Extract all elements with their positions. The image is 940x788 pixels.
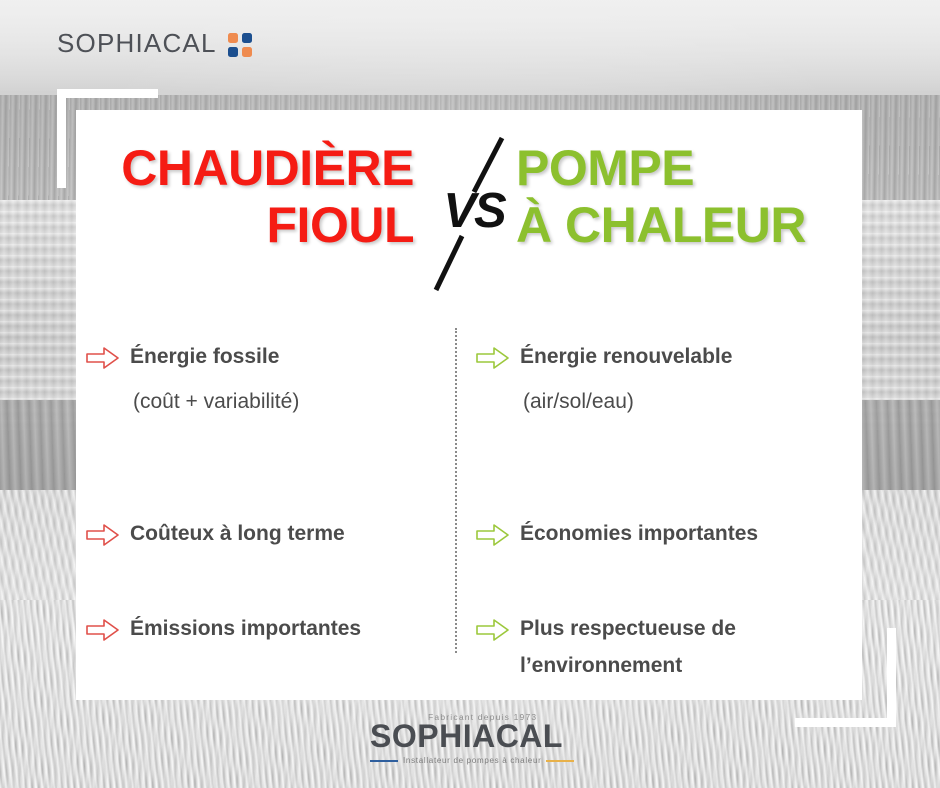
list-item-text: Énergie fossile (coût + variabilité) xyxy=(130,343,464,415)
list-item-lead: Économies importantes xyxy=(520,520,854,547)
list-item: Énergie fossile (coût + variabilité) xyxy=(86,343,464,415)
versus-label: VS xyxy=(434,187,514,236)
list-item-sub: l’environnement xyxy=(520,652,854,679)
footer-tagline-bottom: Installateur de pompes à chaleur xyxy=(403,756,541,765)
title-row: CHAUDIÈRE FIOUL VS POMPE À CHALEUR xyxy=(76,140,862,290)
list-item-text: Énergie renouvelable (air/sol/eau) xyxy=(520,343,854,415)
arrow-right-icon xyxy=(476,618,509,642)
list-item: Énergie renouvelable (air/sol/eau) xyxy=(476,343,854,415)
dot-top-left xyxy=(228,33,238,43)
arrow-right-icon xyxy=(86,523,119,547)
dot-bottom-right xyxy=(242,47,252,57)
arrow-right-icon xyxy=(86,618,119,642)
arrow-right-icon xyxy=(476,346,509,370)
comparison-columns: Énergie fossile (coût + variabilité) Coû… xyxy=(76,315,862,665)
versus-badge: VS xyxy=(428,132,520,297)
dot-top-right xyxy=(242,33,252,43)
list-item-lead: Coûteux à long terme xyxy=(130,520,464,547)
list-item: Coûteux à long terme xyxy=(86,520,464,547)
list-item-lead: Émissions importantes xyxy=(130,615,464,642)
title-right-line1: POMPE xyxy=(516,140,862,197)
arrow-right-icon xyxy=(86,346,119,370)
header-brand: SOPHIACAL xyxy=(57,28,252,59)
list-item-sub: (coût + variabilité) xyxy=(133,388,464,415)
footer-brand-rest: OPHIACAL xyxy=(392,718,563,754)
title-right-line2: À CHALEUR xyxy=(516,197,862,254)
footer-logo: Fabricant depuis 1973 SOPHIACAL Installa… xyxy=(370,712,570,774)
list-item-sub: (air/sol/eau) xyxy=(523,388,854,415)
footer-line-blue xyxy=(370,760,398,762)
list-item-text: Économies importantes xyxy=(520,520,854,547)
column-pompe-a-chaleur: Énergie renouvelable (air/sol/eau) Écono… xyxy=(476,315,854,679)
list-item-lead: Énergie fossile xyxy=(130,343,464,370)
list-item: Économies importantes xyxy=(476,520,854,547)
footer-brand-s-glyph: S xyxy=(370,718,392,754)
footer-line-gold xyxy=(546,760,574,762)
title-left-line1: CHAUDIÈRE xyxy=(76,140,414,197)
list-item-text: Plus respectueuse de l’environnement xyxy=(520,615,854,679)
list-item: Plus respectueuse de l’environnement xyxy=(476,615,854,679)
dot-bottom-left xyxy=(228,47,238,57)
title-left-line2: FIOUL xyxy=(76,197,414,254)
arrow-right-icon xyxy=(476,523,509,547)
brand-name: SOPHIACAL xyxy=(57,28,217,59)
title-right-group: POMPE À CHALEUR xyxy=(516,140,862,254)
list-item-lead: Énergie renouvelable xyxy=(520,343,854,370)
footer-brand-name: SOPHIACAL xyxy=(370,720,563,752)
list-item-lead: Plus respectueuse de xyxy=(520,615,854,642)
list-item-text: Émissions importantes xyxy=(130,615,464,642)
title-left-group: CHAUDIÈRE FIOUL xyxy=(76,140,424,254)
content-card: CHAUDIÈRE FIOUL VS POMPE À CHALEUR xyxy=(76,110,862,700)
list-item-text: Coûteux à long terme xyxy=(130,520,464,547)
footer-tagline-row: Installateur de pompes à chaleur xyxy=(370,756,570,765)
list-item: Émissions importantes xyxy=(86,615,464,642)
brand-logo-dots-icon xyxy=(228,33,252,57)
column-chaudiere-fioul: Énergie fossile (coût + variabilité) Coû… xyxy=(86,315,464,642)
